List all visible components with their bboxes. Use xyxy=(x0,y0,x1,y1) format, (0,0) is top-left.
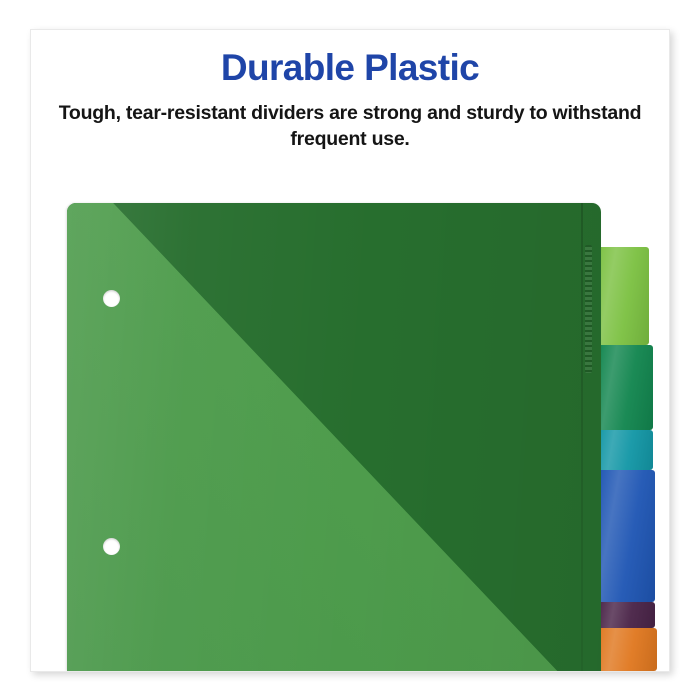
divider-gloss-highlight xyxy=(67,203,601,671)
product-photo-alt: Green plastic pocket divider with multic… xyxy=(31,175,32,176)
divider-score-line xyxy=(581,203,583,671)
product-image-canvas: Durable Plastic Tough, tear-resistant di… xyxy=(0,0,700,700)
page-title: Durable Plastic xyxy=(31,46,669,90)
tab-teal xyxy=(597,430,653,470)
punch-hole-top xyxy=(103,290,120,307)
tab-orange xyxy=(597,628,657,671)
front-pocket-divider xyxy=(67,203,601,671)
tab-blue xyxy=(597,470,655,602)
tab-purple xyxy=(597,602,655,628)
divider-tab-stack xyxy=(597,175,669,671)
product-card: Durable Plastic Tough, tear-resistant di… xyxy=(30,29,670,672)
product-photo: Green plastic pocket divider with multic… xyxy=(31,175,669,671)
tab-light-green xyxy=(597,247,649,345)
headline-block: Durable Plastic Tough, tear-resistant di… xyxy=(31,46,669,152)
tab-green xyxy=(597,345,653,430)
page-subtitle: Tough, tear-resistant dividers are stron… xyxy=(45,100,655,152)
punch-hole-bottom xyxy=(103,538,120,555)
reinforced-edge-strip xyxy=(585,245,592,373)
